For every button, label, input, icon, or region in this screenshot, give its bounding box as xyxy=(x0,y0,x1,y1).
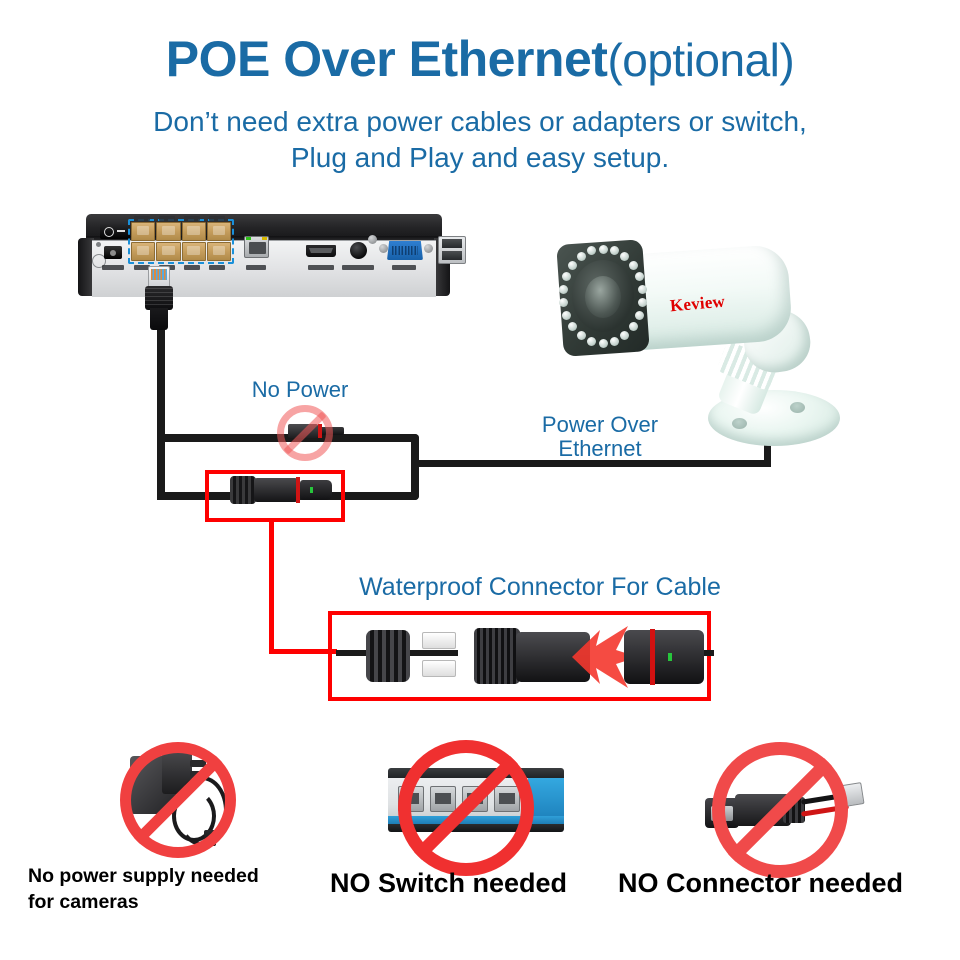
ir-led-icon xyxy=(577,331,586,340)
lan-led-amber-icon xyxy=(262,237,267,240)
rj45-strain-relief-boot xyxy=(145,286,173,310)
ir-led-icon xyxy=(629,322,638,331)
port-label-poe-top-2 xyxy=(159,216,175,221)
feature-caption-no-power-supply: No power supply needed for cameras xyxy=(28,864,318,915)
ir-led-icon xyxy=(599,245,608,254)
port-label-vga xyxy=(392,265,416,270)
port-label-poe-bot-4 xyxy=(209,265,225,270)
feature-caption-no-switch: NO Switch needed xyxy=(330,868,590,899)
rj45-wire-pairs-icon xyxy=(151,269,167,280)
title-optional-text: (optional) xyxy=(607,34,794,86)
ir-led-icon xyxy=(635,272,644,281)
usb-ports[interactable] xyxy=(438,236,466,264)
wp-red-ring xyxy=(650,629,655,685)
audio-out-jack[interactable] xyxy=(350,242,367,259)
port-label-lan xyxy=(246,265,266,270)
ban-slash-icon xyxy=(283,411,326,454)
vga-port[interactable] xyxy=(387,241,423,260)
ir-led-icon xyxy=(568,261,577,270)
no-power-supply-ban-icon xyxy=(120,742,236,858)
poe-port-3[interactable] xyxy=(182,222,206,241)
poe-label-line-1: Power Over xyxy=(480,413,720,437)
vga-screw-top-icon xyxy=(368,235,377,244)
wp-female-body xyxy=(624,630,704,684)
page-subtitle: Don’t need extra power cables or adapter… xyxy=(0,104,960,176)
poe-port-4[interactable] xyxy=(207,222,231,241)
waterproof-connector-highlight-box xyxy=(205,470,345,522)
wp-gasket-lower xyxy=(422,660,456,677)
label-no-power: No Power xyxy=(180,378,420,402)
poe-port-1[interactable] xyxy=(131,222,155,241)
caption-line-2: for cameras xyxy=(28,890,318,916)
rj45-cable-tail xyxy=(150,308,168,330)
wp-cap-nut xyxy=(366,630,410,682)
hdmi-port[interactable] xyxy=(306,245,336,257)
port-label-audio xyxy=(342,265,374,270)
ir-led-icon xyxy=(629,261,638,270)
poe-port-8[interactable] xyxy=(207,242,231,261)
page-title: POE Over Ethernet(optional) xyxy=(0,34,960,84)
callout-line-horizontal xyxy=(269,649,337,654)
label-waterproof-connector: Waterproof Connector For Cable xyxy=(280,574,800,602)
ir-led-icon xyxy=(562,272,571,281)
poe-port-7[interactable] xyxy=(182,242,206,261)
ir-led-icon xyxy=(559,285,568,294)
port-label-poe-top-1 xyxy=(134,216,150,221)
cable-lower-vertical-left xyxy=(157,434,165,500)
ban-slash-icon xyxy=(133,755,223,845)
no-power-ban-icon xyxy=(277,405,333,461)
poe-port-group[interactable] xyxy=(131,222,231,261)
ban-slash-icon xyxy=(413,755,518,860)
feature-caption-no-connector: NO Connector needed xyxy=(618,868,938,899)
infographic-canvas: POE Over Ethernet(optional) Don’t need e… xyxy=(0,0,960,960)
poe-port-2[interactable] xyxy=(156,222,180,241)
ir-led-icon xyxy=(635,311,644,320)
ir-led-icon xyxy=(638,285,647,294)
power-switch-icon[interactable] xyxy=(100,223,130,239)
wp-gasket-upper xyxy=(422,632,456,649)
waterproof-connector-exploded xyxy=(334,618,706,696)
title-main-text: POE Over Ethernet xyxy=(166,31,608,87)
port-label-poe-top-3 xyxy=(184,216,200,221)
nvr-recorder[interactable] xyxy=(78,214,450,309)
camera-lens xyxy=(585,276,621,318)
cable-segment-vertical-from-nvr xyxy=(157,322,165,442)
no-switch-ban-icon xyxy=(398,740,534,876)
poe-port-6[interactable] xyxy=(156,242,180,261)
ir-led-icon xyxy=(620,252,629,261)
callout-line-vertical xyxy=(269,520,274,654)
ban-slash-icon xyxy=(727,757,832,862)
port-label-poe-bot-3 xyxy=(184,265,200,270)
subtitle-line-2: Plug and Play and easy setup. xyxy=(0,140,960,176)
ground-screw-icon xyxy=(96,242,101,247)
port-label-poe-top-4 xyxy=(209,216,225,221)
ir-led-icon xyxy=(577,252,586,261)
wp-green-mark-icon xyxy=(668,653,672,661)
poe-label-line-2: Ethernet xyxy=(480,437,720,461)
ir-led-icon xyxy=(610,337,619,346)
vga-screw-right-icon xyxy=(424,244,433,253)
subtitle-line-1: Don’t need extra power cables or adapter… xyxy=(0,104,960,140)
no-connector-ban-icon xyxy=(712,742,848,878)
lan-led-green-icon xyxy=(246,237,251,240)
port-label-hdmi xyxy=(308,265,334,270)
rj45-plug[interactable] xyxy=(142,266,176,328)
ir-led-icon xyxy=(599,339,608,348)
label-power-over-ethernet: Power Over Ethernet xyxy=(480,413,720,461)
caption-line-1: No power supply needed xyxy=(28,864,318,890)
poe-port-5[interactable] xyxy=(131,242,155,261)
cable-right-junction-vertical xyxy=(411,434,419,500)
wp-ribbed-collar xyxy=(474,628,520,684)
dc-input-jack[interactable] xyxy=(104,246,122,259)
mount-hole-1-icon xyxy=(790,402,805,413)
port-label-dc xyxy=(102,265,124,270)
vga-screw-left-icon xyxy=(379,244,388,253)
mount-hole-2-icon xyxy=(732,418,747,429)
ir-led-icon xyxy=(587,337,596,346)
